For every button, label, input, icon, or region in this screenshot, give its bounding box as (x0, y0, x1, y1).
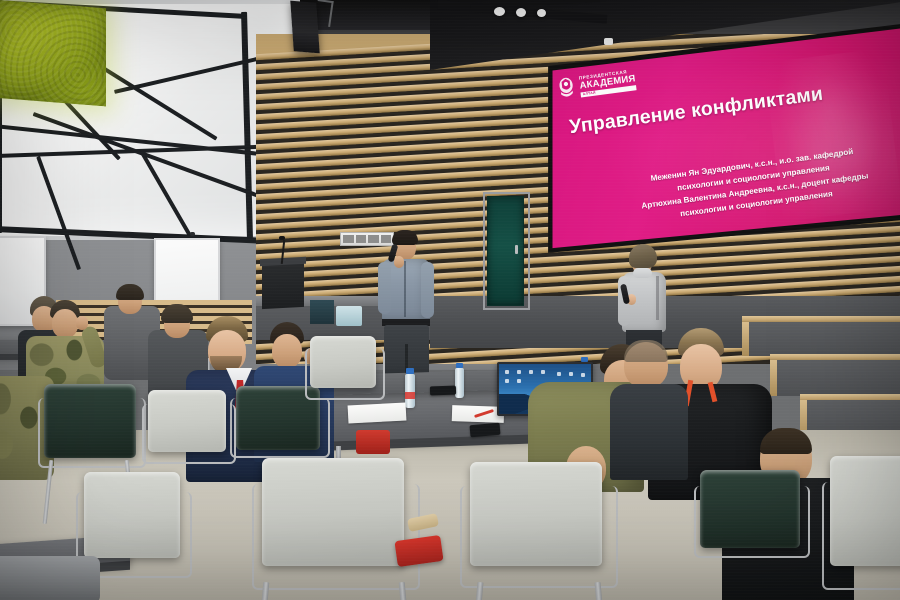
bottle-cap-2 (406, 368, 414, 374)
attendee-head (52, 309, 78, 338)
chair-frame (694, 486, 810, 558)
attendee-hair (116, 284, 144, 300)
stage-light-3 (537, 9, 546, 17)
backlit-geometric-panel (0, 4, 294, 236)
red-bag-2 (356, 430, 390, 454)
paper-stack-1[interactable] (348, 402, 407, 423)
presenter-arm-right (421, 262, 434, 318)
presenter-arm-left (378, 262, 391, 314)
phone-2[interactable] (430, 386, 456, 396)
step-1 (742, 322, 900, 356)
chair-frame (230, 398, 330, 458)
desktop-icon[interactable] (557, 372, 561, 376)
chair-frame (460, 486, 618, 588)
chair-frame (305, 348, 385, 400)
desktop-icon[interactable] (517, 379, 521, 383)
lectern (262, 261, 304, 309)
gooseneck-mic-icon (279, 236, 285, 240)
bottle-label-2 (405, 392, 415, 399)
desktop-icon[interactable] (517, 370, 521, 374)
green-door[interactable] (487, 196, 524, 306)
desktop-icon[interactable] (505, 370, 509, 374)
step-2 (770, 360, 900, 396)
presenter-hand (394, 256, 404, 268)
storage-crate (310, 300, 334, 324)
door-handle[interactable] (515, 245, 518, 254)
water-bottle-2[interactable] (405, 374, 415, 408)
ceiling-speaker (290, 1, 319, 54)
desktop-icon[interactable] (505, 379, 509, 383)
desktop-icon[interactable] (581, 373, 585, 377)
academy-logo: ПРЕЗИДЕНТСКАЯ АКАДЕМИЯ АЛТАЙ (556, 67, 637, 101)
female-presenter-hair (629, 244, 657, 268)
female-presenter-stripe (656, 276, 659, 320)
presenter-shirt-placket (404, 261, 406, 317)
stage-light-1 (494, 7, 505, 16)
chair-frame (822, 482, 900, 590)
desktop-icon[interactable] (569, 372, 573, 376)
wall-outlets[interactable] (340, 232, 394, 246)
step-riser-wood-2 (770, 360, 777, 396)
bottle-cap-3 (456, 363, 463, 368)
projection-screen: ПРЕЗИДЕНТСКАЯ АКАДЕМИЯ АЛТАЙ Управление … (540, 22, 900, 260)
attendee-head (272, 334, 302, 368)
storage-bin (336, 306, 362, 326)
desktop-icon[interactable] (541, 370, 545, 374)
slide-subtitle: Меженин Ян Эдуардович, к.с.н., и.о. зав.… (588, 137, 900, 233)
wall-sensor-icon (190, 232, 195, 236)
crest-emblem-icon (556, 75, 578, 101)
female-presenter-collar (633, 268, 652, 278)
upper-left-wall (0, 0, 300, 240)
attendee-hair (161, 304, 193, 323)
water-bottle-3[interactable] (455, 368, 464, 398)
presenter-hair (392, 230, 418, 245)
stage-light-2 (516, 8, 526, 17)
step-riser-wood-1 (742, 322, 749, 356)
chair-frame (252, 484, 420, 590)
slide-content: ПРЕЗИДЕНТСКАЯ АКАДЕМИЯ АЛТАЙ Управление … (528, 0, 900, 284)
attendee-dark-top (610, 384, 688, 480)
moss-art-panel (0, 0, 106, 106)
chair-frame (38, 398, 146, 468)
attendee-hand (76, 316, 88, 330)
suitcase (0, 556, 100, 600)
photograph-lecture-hall: ПРЕЗИДЕНТСКАЯ АКАДЕМИЯ АЛТАЙ Управление … (0, 0, 900, 600)
chair-frame (142, 404, 236, 464)
desktop-icon[interactable] (529, 370, 533, 374)
